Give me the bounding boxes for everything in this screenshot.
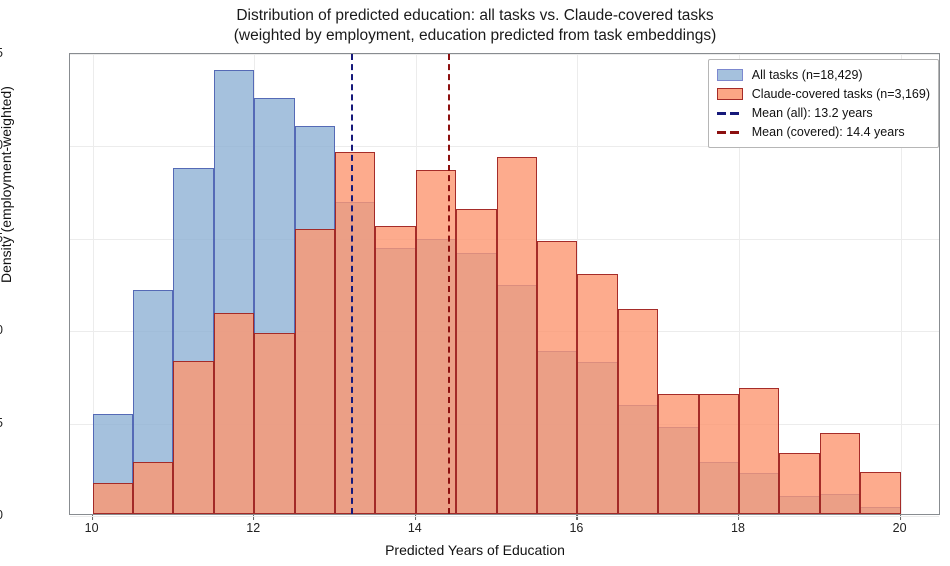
histogram-bar: [658, 394, 698, 514]
legend-label-covered-tasks: Claude-covered tasks (n=3,169): [752, 87, 930, 101]
x-tick-label: 20: [893, 521, 907, 535]
legend-swatch-all-tasks: [717, 69, 743, 81]
histogram-bar: [618, 309, 658, 514]
legend-dash-mean-all: [717, 107, 743, 119]
histogram-bar: [577, 274, 617, 514]
histogram-bar: [699, 394, 739, 514]
legend-label-all-tasks: All tasks (n=18,429): [752, 68, 863, 82]
y-axis-label: Density (employment-weighted): [0, 86, 14, 283]
y-tick-label: 0.10: [0, 323, 3, 337]
legend-item-mean-covered: Mean (covered): 14.4 years: [717, 122, 930, 141]
histogram-bar: [295, 229, 335, 514]
mean-line-all: [351, 54, 353, 514]
x-axis-label: Predicted Years of Education: [0, 542, 950, 558]
histogram-bar: [456, 209, 496, 514]
histogram-bar: [537, 241, 577, 515]
legend-dash-mean-covered: [717, 126, 743, 138]
legend-item-covered-tasks: Claude-covered tasks (n=3,169): [717, 84, 930, 103]
y-tick-label: 0.20: [0, 138, 3, 152]
histogram-bar: [820, 433, 860, 514]
histogram-bar: [375, 226, 415, 514]
x-tick-label: 16: [569, 521, 583, 535]
legend-label-mean-covered: Mean (covered): 14.4 years: [752, 125, 905, 139]
legend-swatch-covered-tasks: [717, 88, 743, 100]
y-tick-label: 0.15: [0, 231, 3, 245]
histogram-bar: [133, 462, 173, 514]
histogram-bar: [214, 313, 254, 514]
chart-subtitle: (weighted by employment, education predi…: [0, 26, 950, 46]
histogram-bar: [416, 170, 456, 514]
gridline-horizontal: [70, 516, 939, 517]
histogram-bar: [497, 157, 537, 514]
histogram-bar: [739, 388, 779, 514]
y-tick-label: 0.00: [0, 508, 3, 522]
legend-item-all-tasks: All tasks (n=18,429): [717, 65, 930, 84]
legend-label-mean-all: Mean (all): 13.2 years: [752, 106, 873, 120]
histogram-bar: [860, 472, 900, 515]
histogram-bar: [335, 152, 375, 514]
histogram-bar: [173, 361, 213, 514]
histogram-bar: [93, 483, 133, 514]
legend-item-mean-all: Mean (all): 13.2 years: [717, 103, 930, 122]
x-tick-label: 18: [731, 521, 745, 535]
x-tick-label: 12: [246, 521, 260, 535]
x-tick-label: 14: [408, 521, 422, 535]
page-title: Distribution of predicted education: all…: [0, 6, 950, 26]
y-tick-label: 0.05: [0, 416, 3, 430]
chart-title-block: Distribution of predicted education: all…: [0, 6, 950, 46]
y-tick-label: 0.25: [0, 46, 3, 60]
x-tick-label: 10: [85, 521, 99, 535]
mean-line-covered: [448, 54, 450, 514]
chart-figure: Distribution of predicted education: all…: [0, 0, 950, 566]
legend: All tasks (n=18,429) Claude-covered task…: [708, 59, 939, 148]
histogram-bar: [254, 333, 294, 514]
histogram-bar: [779, 453, 819, 514]
